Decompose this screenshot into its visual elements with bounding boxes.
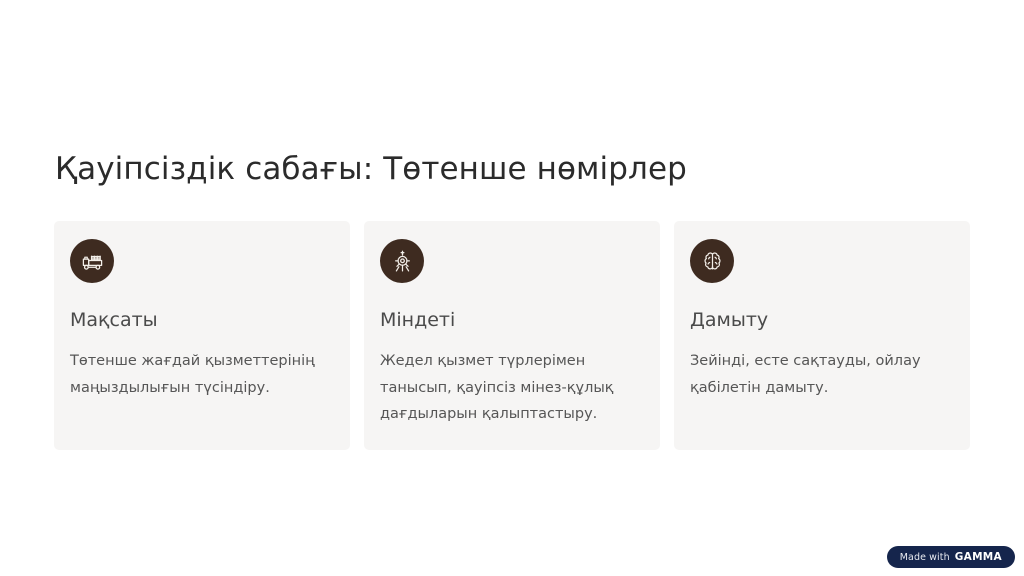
page-title: Қауіпсіздік сабағы: Төтенше нөмірлер	[55, 150, 687, 189]
slide-canvas: Қауіпсіздік сабағы: Төтенше нөмірлер	[0, 0, 1024, 576]
fire-truck-icon	[70, 239, 114, 283]
card-body: Жедел қызмет түрлерімен танысып, қауіпсі…	[380, 348, 644, 428]
card-body: Зейінді, есте сақтауды, ойлау қабілетін …	[690, 348, 954, 402]
card-damytu[interactable]: Дамыту Зейінді, есте сақтауды, ойлау қаб…	[674, 221, 970, 450]
card-mindeti[interactable]: Міндеті Жедел қызмет түрлерімен танысып,…	[364, 221, 660, 450]
card-maqsaty[interactable]: Мақсаты Төтенше жағдай қызметтерінің маң…	[54, 221, 350, 450]
emergency-siren-icon	[380, 239, 424, 283]
brain-icon	[690, 239, 734, 283]
card-heading: Дамыту	[690, 309, 954, 332]
badge-made-with-label: Made with	[900, 552, 950, 563]
card-heading: Мақсаты	[70, 309, 334, 332]
card-heading: Міндеті	[380, 309, 644, 332]
made-with-gamma-badge[interactable]: Made with GAMMA	[887, 546, 1015, 568]
card-body: Төтенше жағдай қызметтерінің маңыздылығы…	[70, 348, 334, 402]
badge-brand-label: GAMMA	[955, 551, 1002, 563]
cards-row: Мақсаты Төтенше жағдай қызметтерінің маң…	[54, 221, 970, 450]
